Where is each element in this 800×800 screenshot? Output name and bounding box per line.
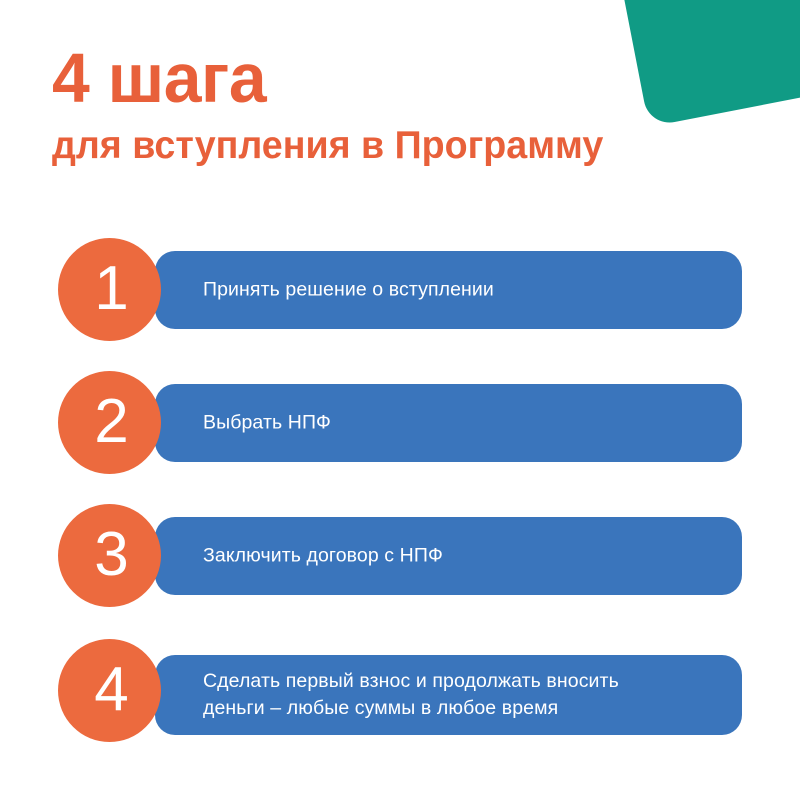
step-text-line: Сделать первый взнос и продолжать вносит… [203, 668, 716, 695]
step-number: 4 [94, 659, 128, 721]
step-text-line: Принять решение о вступлении [203, 277, 716, 304]
infographic-canvas: 4 шага для вступления в Программу Принят… [0, 0, 800, 800]
step-number-badge: 1 [58, 238, 161, 341]
step-text-line: деньги – любые суммы в любое время [203, 695, 716, 722]
step-number-badge: 4 [58, 639, 161, 742]
step-number: 2 [94, 391, 128, 453]
step-text: Заключить договор с НПФ [203, 543, 716, 570]
step-text: Сделать первый взнос и продолжать вносит… [203, 668, 716, 722]
step-bar: Принять решение о вступлении [155, 251, 742, 329]
step-bar: Сделать первый взнос и продолжать вносит… [155, 655, 742, 735]
step-number-badge: 2 [58, 371, 161, 474]
step-text-line: Выбрать НПФ [203, 410, 716, 437]
step-number: 1 [94, 258, 128, 320]
step-text: Выбрать НПФ [203, 410, 716, 437]
step-text: Принять решение о вступлении [203, 277, 716, 304]
step-text-line: Заключить договор с НПФ [203, 543, 716, 570]
step-bar: Заключить договор с НПФ [155, 517, 742, 595]
steps-list: Принять решение о вступлении 1 Выбрать Н… [0, 0, 800, 800]
step-number: 3 [94, 524, 128, 586]
step-bar: Выбрать НПФ [155, 384, 742, 462]
step-number-badge: 3 [58, 504, 161, 607]
